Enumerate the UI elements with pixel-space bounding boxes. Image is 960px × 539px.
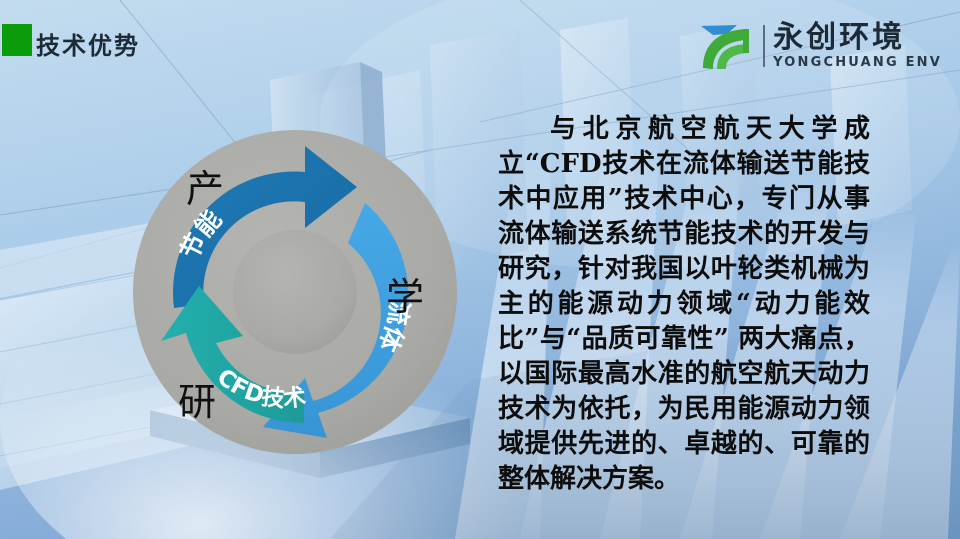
slide-canvas: 技术优势 永创环境 YONGCHUANG ENV	[0, 0, 960, 539]
outer-label-yan: 研	[178, 380, 216, 424]
cycle-diagram: 节能 流体 CFD技术 产 学 研	[133, 130, 458, 455]
cycle-diagram-svg: 节能 流体 CFD技术 产 学 研	[133, 130, 458, 455]
logo-name-en: YONGCHUANG ENV	[773, 56, 942, 69]
logo-divider	[763, 25, 765, 67]
outer-label-chan: 产	[186, 167, 224, 211]
body-paragraph: 与北京航空航天大学成立“CFD技术在流体输送节能技术中应用”技术中心，专门从事流…	[498, 112, 870, 497]
yongchuang-leaf-mark-icon	[697, 20, 755, 72]
logo-name-cn: 永创环境	[773, 23, 942, 53]
header-accent-marker	[2, 24, 32, 56]
logo-wordmark: 永创环境 YONGCHUANG ENV	[773, 23, 942, 69]
page-title: 技术优势	[36, 26, 140, 61]
company-logo: 永创环境 YONGCHUANG ENV	[697, 18, 942, 74]
outer-label-xue: 学	[386, 275, 424, 319]
diagram-inner-hole	[233, 230, 357, 354]
